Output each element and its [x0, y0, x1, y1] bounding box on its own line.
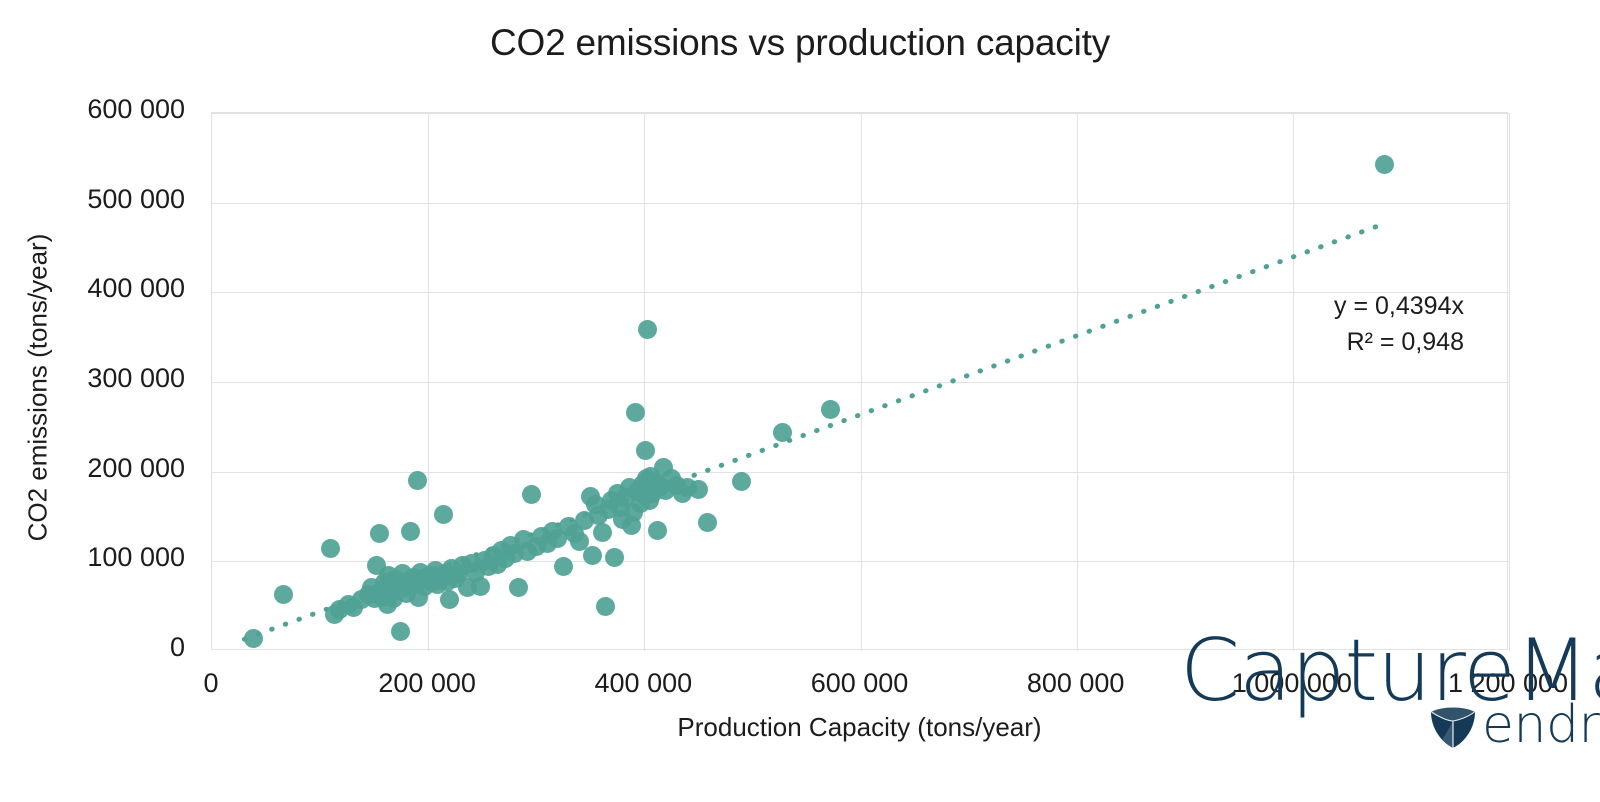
scatter-point — [689, 480, 708, 499]
trendline-annotation: y = 0,4394x R² = 0,948 — [1234, 289, 1464, 360]
page-title: CO2 emissions vs production capacity — [0, 22, 1600, 64]
y-axis-tick-label: 200 000 — [35, 453, 185, 484]
logo-endrava-lockup: endrava — [1428, 699, 1600, 751]
endrava-shield-icon — [1428, 700, 1478, 750]
scatter-point — [471, 577, 490, 596]
y-axis-tick-label: 600 000 — [35, 94, 185, 125]
x-axis-tick-label: 200 000 — [317, 668, 537, 699]
y-axis-tick-label: 500 000 — [35, 184, 185, 215]
y-axis-tick-label: 300 000 — [35, 363, 185, 394]
scatter-point — [401, 522, 420, 541]
scatter-point — [554, 557, 573, 576]
scatter-point — [509, 578, 528, 597]
gridline-vertical — [1293, 113, 1294, 651]
logo-endrava-wordmark: endrava — [1482, 699, 1600, 751]
scatter-point — [274, 585, 293, 604]
scatter-point — [583, 546, 602, 565]
scatter-point — [638, 320, 657, 339]
y-axis-tick-label: 0 — [35, 632, 185, 663]
x-axis-tick-label: 0 — [101, 668, 321, 699]
scatter-point — [434, 505, 453, 524]
y-axis-tick-label: 400 000 — [35, 273, 185, 304]
x-axis-tick-label: 600 000 — [750, 668, 970, 699]
scatter-point — [522, 485, 541, 504]
scatter-point — [596, 597, 615, 616]
scatter-point — [626, 403, 645, 422]
scatter-point — [391, 622, 410, 641]
trendline-equation: y = 0,4394x — [1234, 289, 1464, 325]
x-axis-tick-label: 400 000 — [533, 668, 753, 699]
scatter-point — [698, 513, 717, 532]
scatter-point — [732, 472, 751, 491]
scatter-point — [1375, 155, 1394, 174]
chart-figure: CO2 emissions vs production capacity CO2… — [0, 0, 1600, 802]
scatter-point — [321, 539, 340, 558]
trendline-r-squared: R² = 0,948 — [1234, 325, 1464, 361]
scatter-point — [821, 400, 840, 419]
x-axis-tick-label: 800 000 — [966, 668, 1186, 699]
scatter-point — [370, 524, 389, 543]
brand-logo: CaptureMap endrava — [1180, 621, 1600, 761]
plot-area: y = 0,4394x R² = 0,948 CaptureMap endrav… — [211, 112, 1508, 650]
gridline-vertical — [861, 113, 862, 651]
scatter-point — [593, 523, 612, 542]
gridline-vertical — [1509, 113, 1510, 651]
scatter-point — [648, 521, 667, 540]
scatter-point — [773, 423, 792, 442]
gridline-vertical — [644, 113, 645, 651]
scatter-point — [605, 548, 624, 567]
scatter-point — [440, 590, 459, 609]
scatter-point — [244, 629, 263, 648]
y-axis-tick-label: 100 000 — [35, 542, 185, 573]
scatter-point — [636, 441, 655, 460]
gridline-vertical — [1077, 113, 1078, 651]
scatter-point — [408, 471, 427, 490]
